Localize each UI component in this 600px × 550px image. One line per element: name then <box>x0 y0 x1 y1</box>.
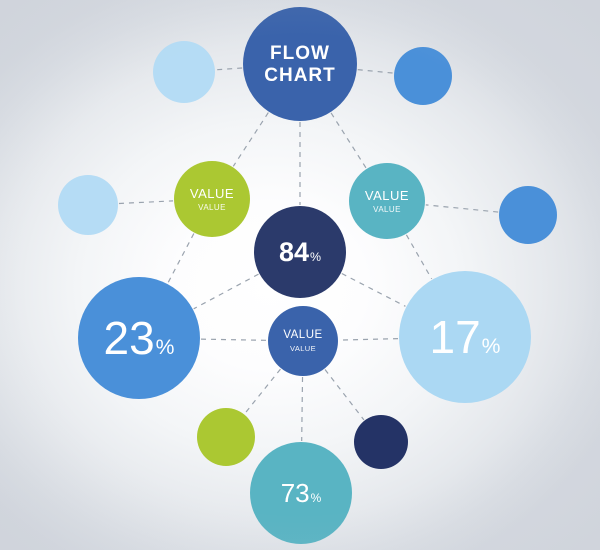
percent-node-17[interactable]: 17% <box>399 271 531 403</box>
title-node[interactable]: FLOWCHART <box>243 7 357 121</box>
connector-flow-chart-title-to-value-green <box>233 113 268 167</box>
title-label-line2: CHART <box>264 66 336 85</box>
percent-symbol: % <box>310 250 321 264</box>
percent-node-84[interactable]: 84% <box>254 206 346 298</box>
connector-pct-23-to-value-center <box>201 339 267 340</box>
connector-flow-chart-title-to-value-teal <box>331 113 366 168</box>
percent-node-73[interactable]: 73% <box>250 442 352 544</box>
value-node-green[interactable]: VALUEVALUE <box>174 161 250 237</box>
satellite-node-right[interactable] <box>499 186 557 244</box>
infographic-canvas: FLOWCHARTVALUEVALUEVALUEVALUE84%23%17%VA… <box>0 0 600 550</box>
connector-flow-chart-title-to-satellite-top-left <box>216 68 242 70</box>
satellite-node-bottom-left[interactable] <box>197 408 255 466</box>
value-label-primary: VALUE <box>365 189 409 202</box>
satellite-node-top-right[interactable] <box>394 47 452 105</box>
percent-symbol: % <box>482 335 501 358</box>
value-node-teal[interactable]: VALUEVALUE <box>349 163 425 239</box>
connector-value-green-to-pct-23 <box>168 234 194 284</box>
connector-satellite-right-to-value-teal <box>426 205 498 212</box>
percent-number: 84 <box>279 237 309 267</box>
value-label-secondary: VALUE <box>198 204 226 212</box>
connector-pct-17-to-value-center <box>339 339 398 340</box>
value-label-primary: VALUE <box>190 187 234 200</box>
connector-pct-84-to-pct-17 <box>342 274 406 307</box>
satellite-node-top-left[interactable] <box>153 41 215 103</box>
value-node-center[interactable]: VALUEVALUE <box>268 306 338 376</box>
connector-satellite-left-to-value-green <box>119 201 173 204</box>
connector-value-center-to-satellite-bottom-left <box>245 369 281 414</box>
percent-symbol: % <box>156 336 175 359</box>
value-label-primary: VALUE <box>283 330 322 342</box>
percent-node-23[interactable]: 23% <box>78 277 200 399</box>
connector-pct-84-to-pct-23 <box>194 274 259 309</box>
satellite-node-bottom-right[interactable] <box>354 415 408 469</box>
percent-number: 73 <box>281 478 310 508</box>
percent-label: 73% <box>281 480 322 506</box>
percent-label: 23% <box>104 315 175 361</box>
percent-number: 17 <box>430 311 481 363</box>
percent-label: 84% <box>279 239 321 266</box>
connector-value-center-to-pct-73 <box>302 377 303 441</box>
percent-label: 17% <box>430 314 501 360</box>
value-label-secondary: VALUE <box>290 345 316 353</box>
connector-value-center-to-satellite-bottom-right <box>325 369 364 419</box>
connector-value-teal-to-pct-17 <box>406 235 431 279</box>
percent-symbol: % <box>311 491 322 505</box>
title-label-line1: FLOW <box>270 43 330 64</box>
value-label-secondary: VALUE <box>373 206 401 214</box>
connector-flow-chart-title-to-satellite-top-right <box>358 70 393 73</box>
title-label: FLOWCHART <box>264 44 336 85</box>
satellite-node-left[interactable] <box>58 175 118 235</box>
percent-number: 23 <box>104 312 155 364</box>
